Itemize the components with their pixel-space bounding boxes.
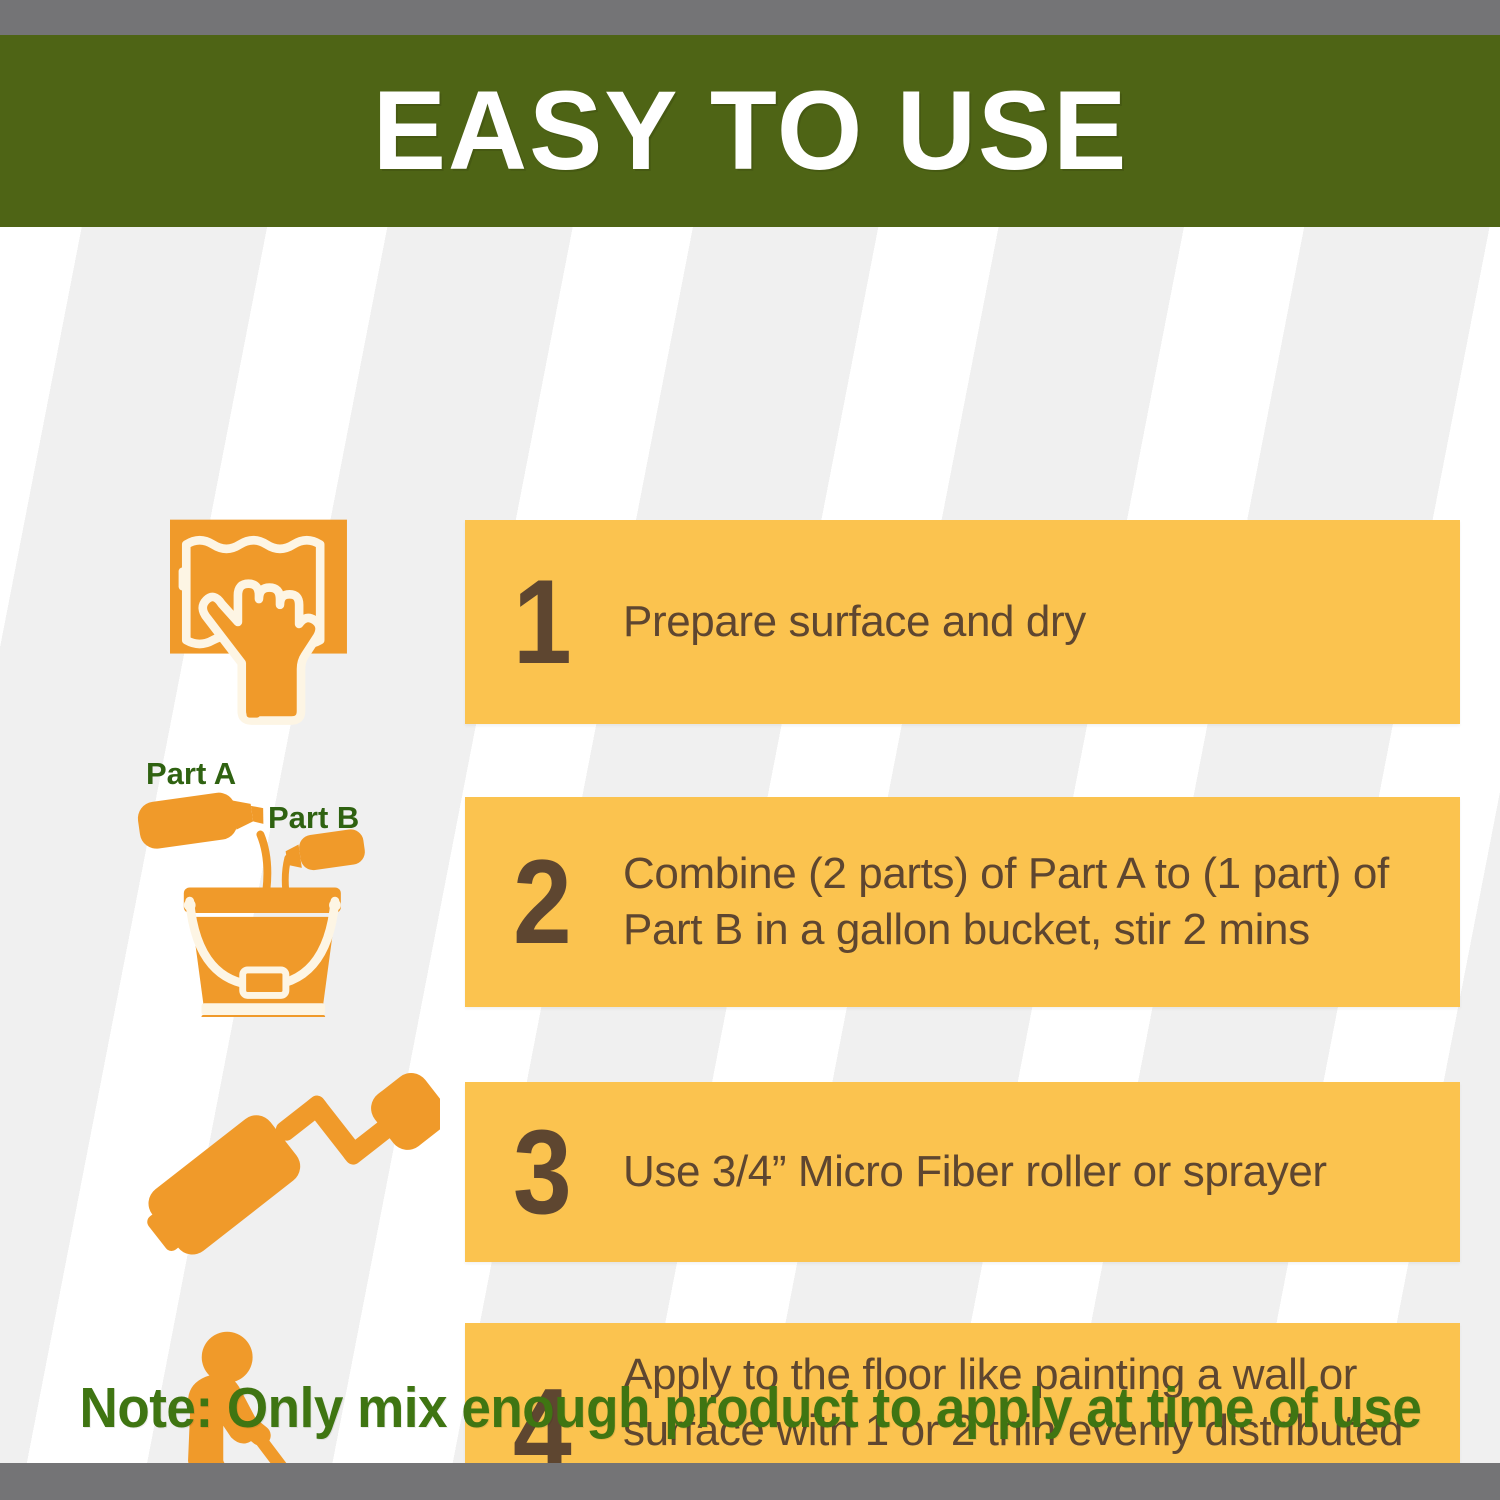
part-a-label: Part A xyxy=(146,756,236,792)
step-2-icon-slot: Part A Part B xyxy=(120,752,440,1017)
step-1-number: 1 xyxy=(513,565,617,679)
bottom-gray-rail xyxy=(0,1463,1500,1500)
header-banner: EASY TO USE xyxy=(0,35,1500,227)
step-3-bar: 3 Use 3/4” Micro Fiber roller or sprayer xyxy=(465,1082,1460,1262)
note-text: Note: Only mix enough product to apply a… xyxy=(79,1375,1421,1441)
step-1-icon-slot xyxy=(120,512,440,732)
step-3-number: 3 xyxy=(513,1115,617,1229)
note-row: Note: Only mix enough product to apply a… xyxy=(0,1360,1500,1455)
step-3-text: Use 3/4” Micro Fiber roller or sprayer xyxy=(623,1144,1351,1200)
step-1-text: Prepare surface and dry xyxy=(623,594,1110,650)
steps-list: 1 Prepare surface and dry Part A Part B xyxy=(0,227,1500,1357)
page-title: EASY TO USE xyxy=(372,75,1128,187)
step-1-bar: 1 Prepare surface and dry xyxy=(465,520,1460,724)
step-3-icon-slot xyxy=(120,1052,440,1292)
step-2-text: Combine (2 parts) of Part A to (1 part) … xyxy=(623,846,1460,958)
part-b-label: Part B xyxy=(268,800,359,836)
step-2-number: 2 xyxy=(513,845,617,959)
infographic-page: EASY TO USE xyxy=(0,0,1500,1500)
top-gray-rail xyxy=(0,0,1500,35)
step-2-bar: 2 Combine (2 parts) of Part A to (1 part… xyxy=(465,797,1460,1007)
hand-wiping-cloth-icon xyxy=(120,512,440,732)
paint-roller-icon xyxy=(120,1052,440,1292)
two-bottles-pouring-into-bucket-icon: Part A Part B xyxy=(120,752,440,1017)
